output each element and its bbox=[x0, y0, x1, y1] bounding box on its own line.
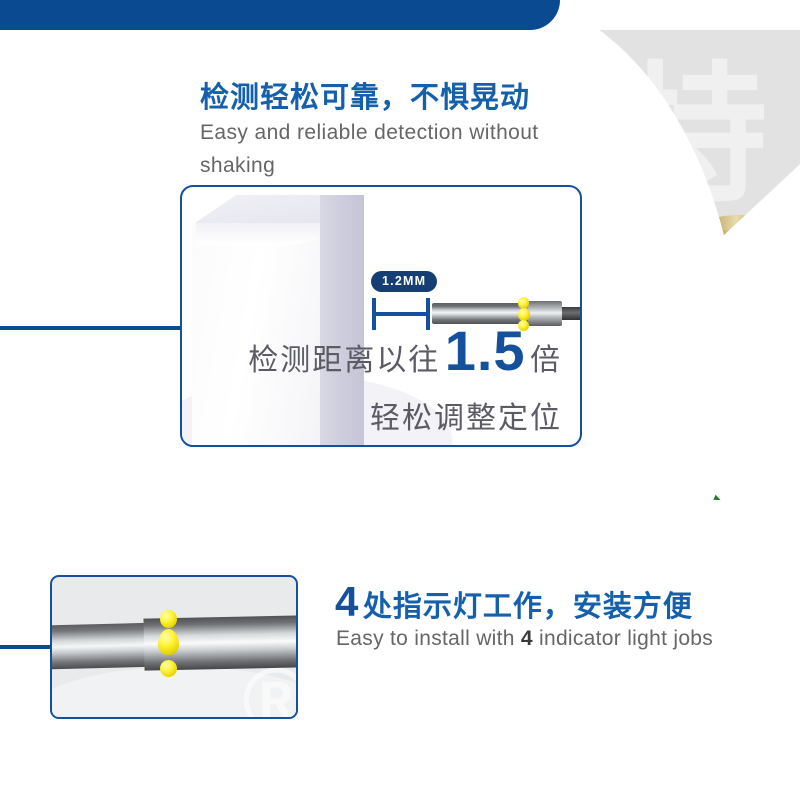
gap-distance-badge: 1.2MM bbox=[371, 271, 437, 292]
dimension-bar bbox=[374, 312, 428, 316]
section-1-title: 检测轻松可靠，不惧晃动 bbox=[200, 74, 530, 116]
section-2-title-text: 处指示灯工作，安装方便 bbox=[363, 591, 693, 623]
infographic-page: 特 特 检测轻松可靠，不惧晃动 Easy and reliable detect… bbox=[0, 0, 800, 800]
thumbnail-sensor-barrel-left bbox=[50, 623, 157, 670]
section-2-title-number: 4 bbox=[335, 578, 358, 625]
overlay-prefix-text: 检测距离以往 bbox=[248, 344, 440, 377]
illustration-overlay-line-2: 轻松调整定位 bbox=[210, 393, 562, 437]
section-2-title: 4 处指示灯工作，安装方便 bbox=[335, 578, 693, 626]
connector-line-top bbox=[0, 326, 182, 330]
top-accent-bar bbox=[0, 0, 560, 30]
target-block-top-fold bbox=[196, 223, 320, 245]
indicator-led-icon bbox=[158, 629, 179, 655]
connector-line-bottom bbox=[0, 645, 52, 649]
section-1-subtitle: Easy and reliable detection without shak… bbox=[200, 116, 560, 182]
overlay-multiplier-unit: 倍 bbox=[530, 344, 562, 377]
section-2-subtitle: Easy to install with 4 indicator light j… bbox=[336, 622, 746, 655]
overlay-multiplier-value: 1.5 bbox=[445, 319, 526, 382]
section-2-subtitle-before: Easy to install with bbox=[336, 627, 521, 650]
product-photo-panel: 特 特 bbox=[600, 30, 800, 500]
illustration-overlay-line-1: 检测距离以往 1.5 倍 bbox=[210, 318, 562, 383]
section-2-subtitle-after: indicator light jobs bbox=[533, 627, 713, 650]
detection-illustration-card: ® 1.2MM 检测距离以往 1.5 倍 bbox=[180, 185, 582, 447]
indicator-led-icon bbox=[160, 660, 177, 677]
indicator-light-thumbnail-card: ® bbox=[50, 575, 298, 719]
indicator-led-icon bbox=[160, 610, 177, 628]
section-2-subtitle-number: 4 bbox=[521, 627, 533, 650]
